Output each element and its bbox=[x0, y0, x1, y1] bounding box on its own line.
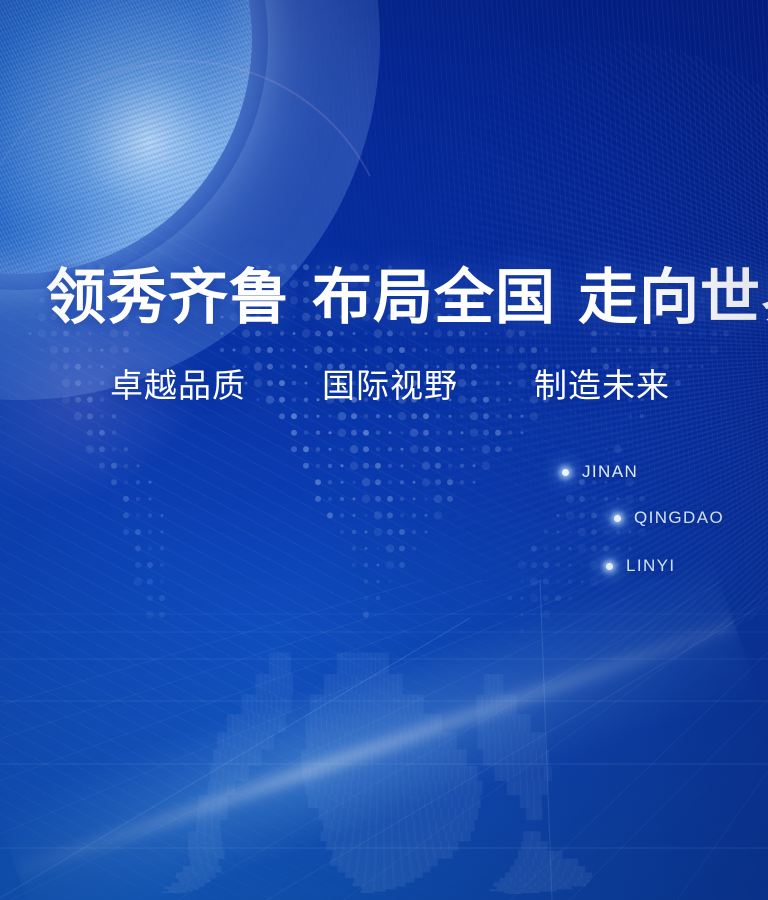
page-title: 领秀齐鲁布局全国走向世界 bbox=[46, 268, 768, 328]
text-layer: 领秀齐鲁布局全国走向世界 卓越品质 国际视野 制造未来 JINAN QINGDA… bbox=[0, 0, 768, 900]
city-dot-icon bbox=[614, 515, 621, 522]
city-marker-jinan[interactable]: JINAN bbox=[562, 462, 638, 482]
city-label-jinan: JINAN bbox=[582, 462, 638, 482]
subtitle-item-3: 制造未来 bbox=[534, 370, 670, 405]
subtitle: 卓越品质 国际视野 制造未来 bbox=[110, 370, 670, 405]
subtitle-item-1: 卓越品质 bbox=[110, 370, 246, 405]
headline-part-1: 领秀齐鲁 bbox=[46, 265, 290, 331]
hero-banner: 领秀齐鲁布局全国走向世界 卓越品质 国际视野 制造未来 JINAN QINGDA… bbox=[0, 0, 768, 900]
subtitle-item-2: 国际视野 bbox=[322, 370, 458, 405]
city-label-linyi: LINYI bbox=[626, 556, 676, 576]
city-dot-icon bbox=[606, 563, 613, 570]
city-marker-qingdao[interactable]: QINGDAO bbox=[614, 508, 724, 528]
city-label-qingdao: QINGDAO bbox=[634, 508, 724, 528]
headline-part-3: 走向世界 bbox=[578, 265, 768, 331]
city-marker-linyi[interactable]: LINYI bbox=[606, 556, 676, 576]
headline-part-2: 布局全国 bbox=[312, 265, 556, 331]
city-dot-icon bbox=[562, 469, 569, 476]
